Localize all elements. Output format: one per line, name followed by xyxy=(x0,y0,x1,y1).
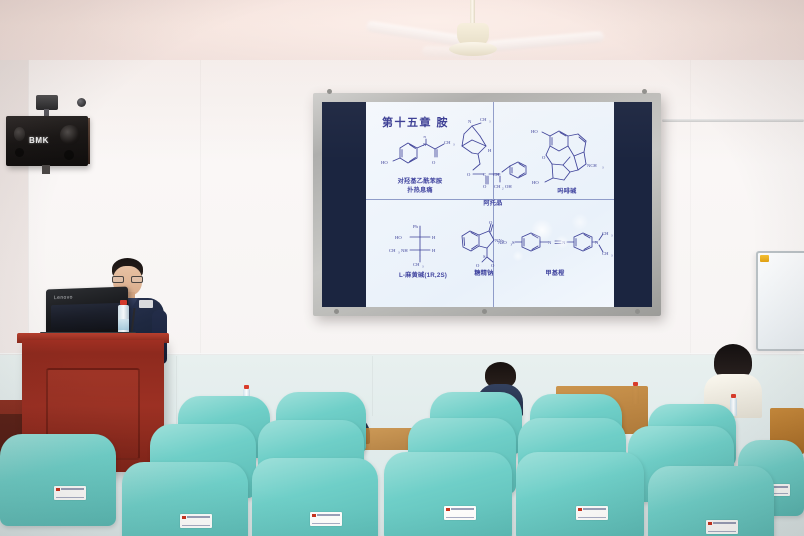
seat[interactable] xyxy=(516,452,644,536)
seat-back-panel xyxy=(526,466,636,536)
svg-text:N: N xyxy=(562,240,566,245)
compound-label-ephedrine: L-麻黄碱(1R,2S) xyxy=(376,272,470,281)
seat-back-panel xyxy=(394,466,504,536)
projection-screen-frame: 第十五章 胺 xyxy=(313,93,661,316)
svg-text:CH: CH xyxy=(602,231,609,236)
svg-text:C: C xyxy=(483,172,486,177)
svg-text:N: N xyxy=(548,240,552,245)
whiteboard xyxy=(756,251,804,351)
svg-text:HO: HO xyxy=(531,129,538,134)
fan-cap xyxy=(449,42,497,56)
svg-text:S: S xyxy=(483,254,486,259)
svg-text:O: O xyxy=(491,263,495,268)
svg-text:S: S xyxy=(512,240,515,245)
bottle-label xyxy=(118,319,129,330)
seat-label xyxy=(444,506,476,520)
seat[interactable] xyxy=(648,466,774,536)
svg-text:3: 3 xyxy=(398,251,400,255)
speaker-tweeter-icon xyxy=(14,127,25,141)
svg-text:HO: HO xyxy=(532,180,539,185)
seat-label xyxy=(54,486,86,500)
speaker-bracket xyxy=(42,165,50,174)
svg-text:3: 3 xyxy=(489,120,491,124)
svg-text:H: H xyxy=(424,135,427,139)
speaker-brand-label: BMK xyxy=(29,136,49,145)
ceiling-fan xyxy=(400,0,600,64)
structure-ephedrine: Ph HO H CH 3 NH H CH 3 xyxy=(388,222,458,268)
fan-blade xyxy=(486,31,605,52)
whiteboard-sticker-icon xyxy=(760,255,769,262)
svg-text:CH: CH xyxy=(389,248,396,253)
svg-text:H: H xyxy=(432,248,436,253)
camera-lens-icon xyxy=(77,98,86,107)
svg-text:CH: CH xyxy=(494,184,501,189)
speaker-port xyxy=(64,150,74,160)
svg-text:O: O xyxy=(483,184,487,189)
security-camera-icon xyxy=(36,95,58,110)
presentation-slide: 第十五章 胺 xyxy=(366,102,614,307)
svg-text:NaO: NaO xyxy=(498,240,507,245)
name-badge xyxy=(139,300,153,308)
glasses-icon xyxy=(112,276,143,283)
wall-seam xyxy=(200,60,201,360)
structure-methyl-orange: NaO 3 S N N N CH 3 CH 3 xyxy=(498,228,610,264)
svg-text:2: 2 xyxy=(502,187,504,191)
lecture-hall-photo: BMK 第十五章 胺 xyxy=(0,0,804,536)
compound-label-atropine: 阿托品 xyxy=(462,200,524,209)
av-equipment-mount: BMK xyxy=(0,95,110,179)
svg-text:O: O xyxy=(542,155,546,160)
svg-text:HO: HO xyxy=(381,160,388,165)
seat-label xyxy=(706,520,738,534)
svg-text:O: O xyxy=(489,220,493,225)
wall-seam xyxy=(690,60,691,360)
svg-text:3: 3 xyxy=(602,166,604,170)
seat-label xyxy=(576,506,608,520)
seat-label xyxy=(180,514,212,528)
svg-text:O: O xyxy=(432,160,436,165)
svg-text:CH: CH xyxy=(602,251,609,256)
screen-frame-screws xyxy=(322,309,652,315)
svg-text:H: H xyxy=(488,148,492,153)
svg-text:3: 3 xyxy=(422,265,424,269)
svg-text:O: O xyxy=(476,263,480,268)
svg-text:N: N xyxy=(595,240,599,245)
compound-label-methyl-orange: 甲基橙 xyxy=(524,270,586,279)
svg-text:O: O xyxy=(467,172,471,177)
speaker-port xyxy=(15,148,24,157)
seat[interactable] xyxy=(384,452,512,536)
svg-text:CH: CH xyxy=(493,172,500,177)
seat[interactable] xyxy=(0,434,116,526)
laptop-brand-label: Lenovo xyxy=(54,294,73,301)
compound-label-morphine: 吗啡碱 xyxy=(536,188,598,197)
speaker-woofer-icon xyxy=(60,125,80,145)
laptop[interactable]: Lenovo xyxy=(46,287,128,338)
svg-text:CH: CH xyxy=(413,262,420,267)
curtain-rail xyxy=(662,119,804,122)
laptop-screen xyxy=(51,303,123,332)
svg-text:NCH: NCH xyxy=(587,163,597,168)
svg-text:3: 3 xyxy=(611,234,613,238)
seat-label xyxy=(310,512,342,526)
svg-text:HO: HO xyxy=(395,235,402,240)
seat[interactable] xyxy=(252,458,378,536)
svg-text:N: N xyxy=(468,119,472,124)
structure-morphine: HO HO O NCH 3 xyxy=(526,124,610,190)
slide-title: 第十五章 胺 xyxy=(382,114,449,130)
svg-text:OH: OH xyxy=(505,184,512,189)
projection-screen[interactable]: 第十五章 胺 xyxy=(322,102,652,307)
svg-text:3: 3 xyxy=(611,254,613,258)
svg-text:NH: NH xyxy=(401,248,408,253)
wall-speaker: BMK xyxy=(6,116,88,166)
svg-text:H: H xyxy=(432,235,436,240)
seat-back-panel xyxy=(262,472,370,536)
seat[interactable] xyxy=(122,462,248,536)
svg-text:Ph: Ph xyxy=(413,224,419,229)
svg-text:CH: CH xyxy=(480,117,487,122)
water-bottle xyxy=(118,300,129,336)
wall-seam xyxy=(372,356,373,416)
compound-label-saccharin: 糖精钠 xyxy=(458,270,510,279)
